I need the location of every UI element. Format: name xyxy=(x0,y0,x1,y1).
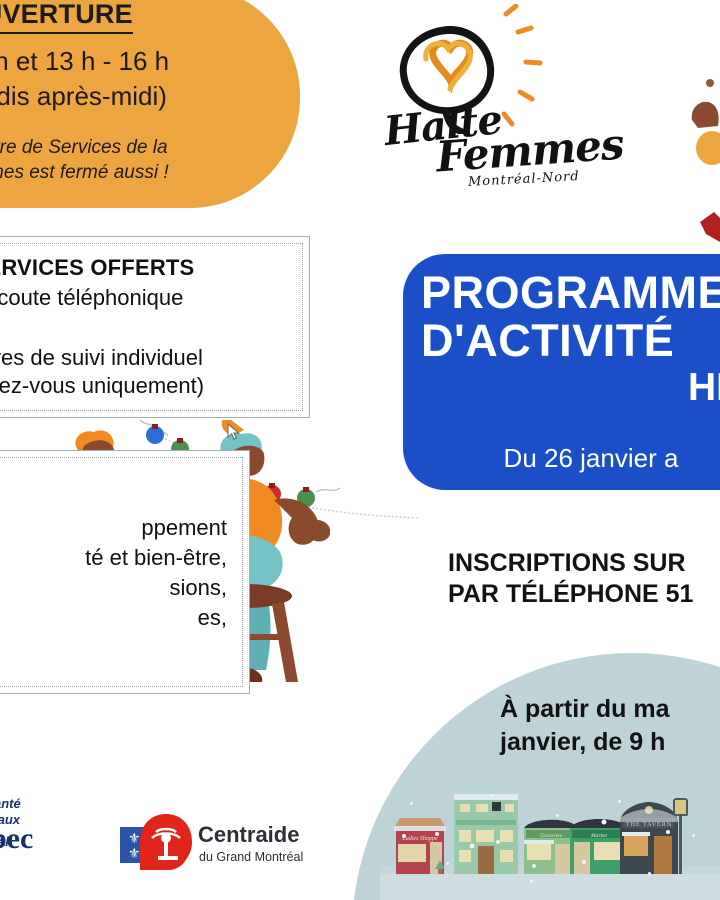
start-info-block: À partir du ma janvier, de 9 h xyxy=(500,693,720,759)
services-text-box[interactable]: SERVICES OFFERTS Écoute téléphonique ont… xyxy=(0,236,310,418)
activities-text-box[interactable]: ppement té et bien-être, sions, es, xyxy=(0,450,250,694)
centraide-subtitle: du Grand Montréal xyxy=(199,850,303,864)
activities-line-4: es, xyxy=(0,603,227,633)
village-shrub xyxy=(434,860,446,874)
opening-hours-line-2: t mercredis après-midi) xyxy=(0,79,278,114)
snow-dot xyxy=(618,800,621,803)
winter-village-illustration: Ladies Shoppe xyxy=(380,784,720,900)
village-lamp-head xyxy=(673,798,688,816)
opening-hours-note-2: Halte-Femmes est fermé aussi ! xyxy=(0,160,278,185)
village-building-2 xyxy=(454,794,518,874)
quebec-fragment-1: anté xyxy=(0,796,21,811)
centraide-mark-icon xyxy=(138,812,194,872)
activities-list: ppement té et bien-être, sions, es, xyxy=(0,513,227,633)
halte-femmes-logo: Halte Femmes Montréal-Nord xyxy=(378,4,593,200)
services-line-3: ontres de suivi individuel xyxy=(0,345,295,371)
banner-line-1: PROGRAMME xyxy=(421,270,720,316)
edge-illustration-shape xyxy=(700,212,720,244)
opening-hours-panel: D'OUVERTURE 9 h - 12 h et 13 h - 16 h t … xyxy=(0,0,300,208)
start-info-line-2: janvier, de 9 h xyxy=(500,726,720,759)
slide-canvas: D'OUVERTURE 9 h - 12 h et 13 h - 16 h t … xyxy=(0,0,720,900)
opening-hours-title-wrap: D'OUVERTURE xyxy=(0,0,278,34)
svg-text:Groceries: Groceries xyxy=(540,833,562,839)
snow-dot xyxy=(530,880,533,883)
banner-line-2: D'ACTIVITÉ xyxy=(421,318,720,364)
snow-dot xyxy=(556,814,559,817)
banner-line-3: HI xyxy=(421,368,720,409)
svg-text:THE TAVERN: THE TAVERN xyxy=(626,822,672,828)
snow-dot xyxy=(648,872,651,875)
svg-text:Market: Market xyxy=(590,833,607,839)
village-building-5: THE TAVERN xyxy=(620,802,678,874)
activities-line-2: té et bien-être, xyxy=(0,543,227,573)
services-line-4: endez-vous uniquement) xyxy=(0,373,295,399)
svg-text:Ladies Shoppe: Ladies Shoppe xyxy=(401,836,438,842)
opening-hours-note-1: s, si le Centre de Services de la xyxy=(0,135,278,160)
opening-hours-title: D'OUVERTURE xyxy=(0,0,133,34)
centraide-logo: Centraide du Grand Montréal xyxy=(138,812,338,886)
activities-line-1: ppement xyxy=(0,513,227,543)
snow-dot xyxy=(446,862,449,865)
snow-dot xyxy=(490,794,493,797)
village-lamppost xyxy=(679,812,682,874)
edge-illustration-figure xyxy=(688,78,720,188)
quebec-wordmark: bec xyxy=(0,822,33,856)
opening-hours-line-1: 9 h - 12 h et 13 h - 16 h xyxy=(0,44,278,79)
start-info-line-1: À partir du ma xyxy=(500,693,720,726)
snow-dot xyxy=(692,834,695,837)
snow-dot xyxy=(410,802,413,805)
activities-line-3: sions, xyxy=(0,573,227,603)
centraide-name: Centraide xyxy=(198,822,299,848)
services-line-2: Écoute téléphonique xyxy=(0,285,295,311)
services-title: SERVICES OFFERTS xyxy=(0,255,295,281)
mouse-cursor xyxy=(227,423,241,446)
